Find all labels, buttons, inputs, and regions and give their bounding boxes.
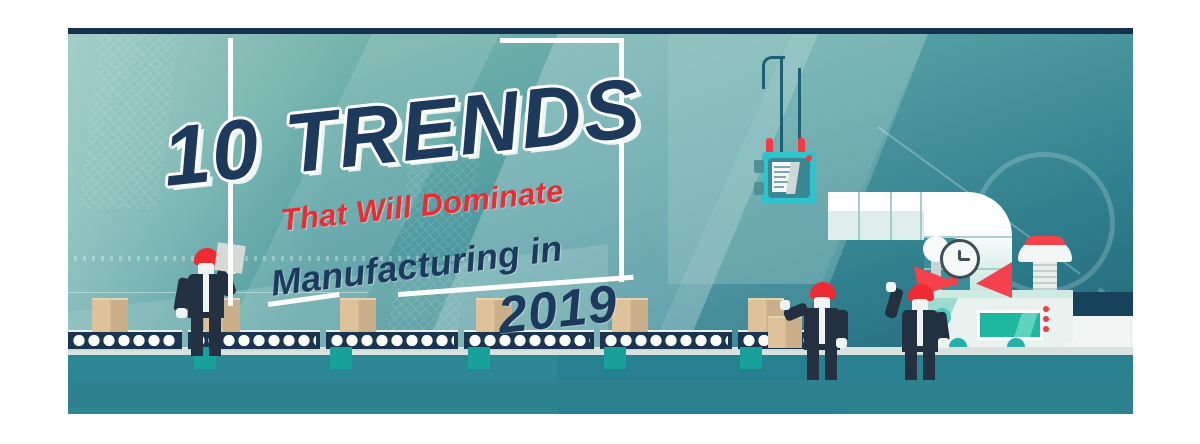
duct-rib (858, 192, 860, 240)
panel-indicator-dot (806, 155, 812, 161)
banner-image: 10 TRENDS That Will Dominate Manufacturi… (0, 0, 1200, 444)
infographic-banner: 10 TRENDS That Will Dominate Manufacturi… (68, 28, 1133, 414)
panel-cable-3 (762, 56, 785, 89)
worker-tie (917, 310, 923, 346)
worker-leg-right (825, 350, 837, 384)
title-line-1: 10 TRENDS (159, 65, 645, 199)
bottom-accent-bar (68, 380, 1133, 408)
title-block: 10 TRENDS That Will Dominate Manufacturi… (146, 58, 746, 338)
worker-leg-left (807, 350, 819, 384)
title-frame-top (500, 38, 624, 43)
worker-center (784, 282, 864, 382)
conveyor-leg (740, 347, 762, 369)
worker-tie (819, 308, 825, 344)
duct-rib (920, 192, 922, 240)
duct-rib (890, 192, 892, 240)
control-panel-icon[interactable] (754, 142, 824, 210)
worker-hand-right (836, 338, 847, 348)
conveyor-leg (468, 347, 490, 369)
valve-shaft (1033, 260, 1057, 290)
panel-tab-top (754, 160, 764, 173)
worker-right (882, 280, 962, 384)
conveyor-leg (604, 347, 626, 369)
conveyor-leg (330, 347, 352, 369)
clock-gauge-icon (940, 239, 980, 279)
valve-red-cap (1025, 236, 1065, 245)
worker-hand-left (780, 300, 790, 310)
gauge-hand-minute (959, 258, 970, 261)
worker-hand-left (886, 282, 896, 292)
panel-tab-bottom (754, 182, 764, 195)
cardboard-box (92, 298, 128, 332)
worker-hand-right (938, 338, 949, 348)
title-line-4: 2019 (496, 278, 620, 342)
